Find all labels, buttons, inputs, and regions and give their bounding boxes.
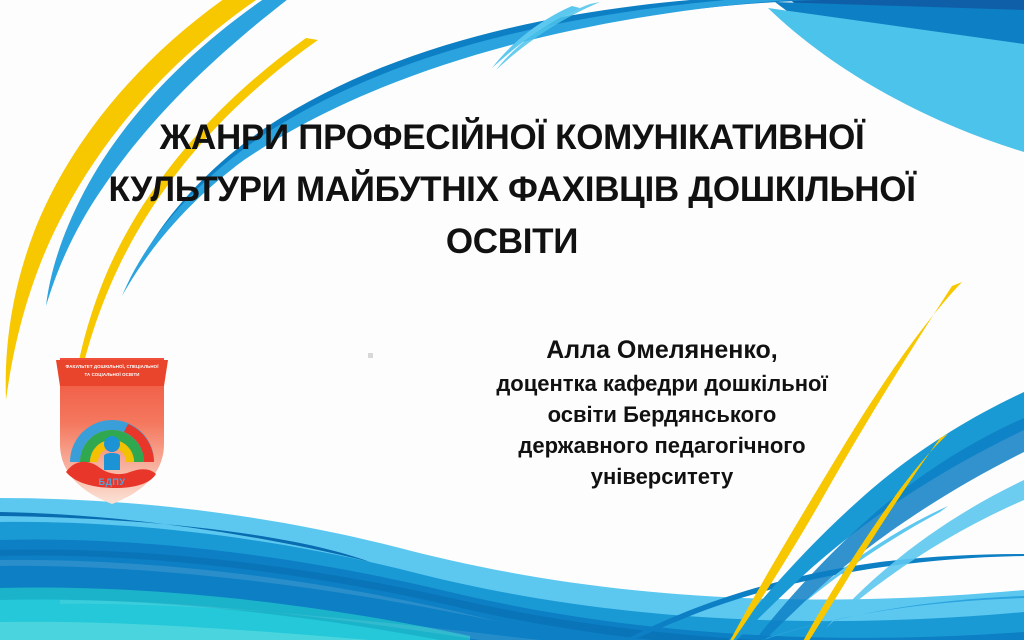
decor-right-cyan-rise (700, 596, 1024, 640)
background-decoration (0, 0, 1024, 640)
university-logo: ФАКУЛЬТЕТ ДОШКІЛЬНОЇ, СПЕЦІАЛЬНОЇ ТА СОЦ… (42, 352, 182, 502)
decor-right-cyan-arc-thin (826, 480, 1024, 628)
title-line-3: ОСВІТИ (72, 216, 952, 268)
author-role-line-3: державного педагогічного (432, 430, 892, 461)
decor-top-cyan-sliver (492, 6, 580, 68)
decor-top-cyan-sliver2 (496, 2, 600, 70)
author-role-line-1: доцентка кафедри дошкільної (432, 368, 892, 399)
dust-speck (368, 353, 373, 358)
decor-wave-teal (0, 587, 470, 640)
author-name: Алла Омеляненко, (432, 332, 892, 368)
decor-wave-blue-deep (0, 512, 370, 562)
decor-wave-blue-primary (0, 539, 1024, 640)
title-line-1: ЖАНРИ ПРОФЕСІЙНОЇ КОМУНІКАТИВНОЇ (72, 112, 952, 164)
author-role-line-2: освіти Бердянського (432, 399, 892, 430)
decor-right-cyan-thin (776, 506, 948, 628)
decor-wave-sky (0, 498, 1024, 640)
decor-wave-cyan-bright (0, 599, 440, 640)
decor-top-blue-deep (790, 0, 1024, 118)
decor-wave-sheen-2 (60, 600, 540, 640)
author-block: Алла Омеляненко, доцентка кафедри дошкіл… (432, 332, 892, 492)
decor-right-blue-rise (590, 554, 1024, 640)
decor-wave-teal-light (0, 622, 370, 640)
decor-wave-blue-mid (0, 522, 1024, 640)
emblem-abbreviation: БДПУ (42, 477, 182, 487)
presentation-slide: ЖАНРИ ПРОФЕСІЙНОЇ КОМУНІКАТИВНОЇ КУЛЬТУР… (0, 0, 1024, 640)
decor-wave-sheen-1 (0, 560, 500, 622)
emblem-banner-line-2: ТА СОЦІАЛЬНОЇ ОСВІТИ (42, 372, 182, 377)
emblem-banner-line-1: ФАКУЛЬТЕТ ДОШКІЛЬНОЇ, СПЕЦІАЛЬНОЇ (42, 364, 182, 369)
author-role-line-4: університету (432, 461, 892, 492)
title-line-2: КУЛЬТУРИ МАЙБУТНІХ ФАХІВЦІВ ДОШКІЛЬНОЇ (72, 164, 952, 216)
decor-wave-blue-deep2 (0, 549, 1024, 640)
page-title: ЖАНРИ ПРОФЕСІЙНОЇ КОМУНІКАТИВНОЇ КУЛЬТУР… (72, 112, 952, 268)
